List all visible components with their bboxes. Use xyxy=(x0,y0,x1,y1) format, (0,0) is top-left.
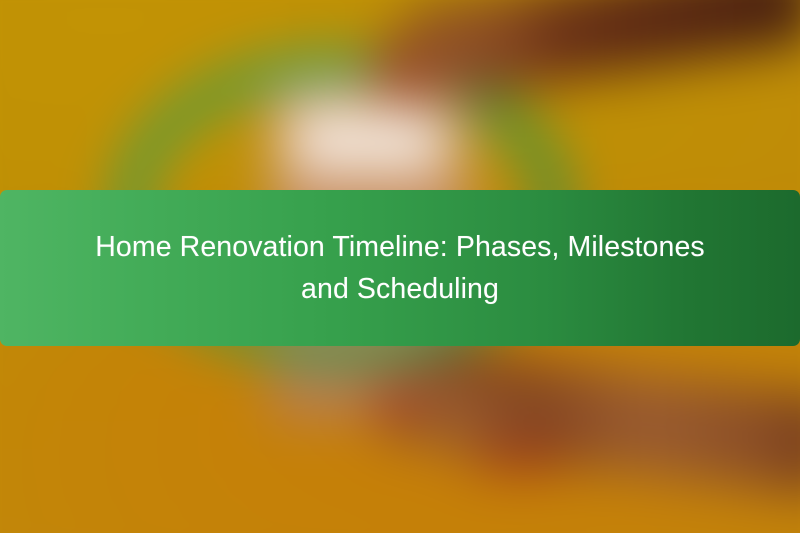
lower-color-smudge xyxy=(460,438,580,478)
page-title: Home Renovation Timeline: Phases, Milest… xyxy=(70,226,730,310)
title-banner: Home Renovation Timeline: Phases, Milest… xyxy=(0,190,800,346)
header-image: Home Renovation Timeline: Phases, Milest… xyxy=(0,0,800,533)
